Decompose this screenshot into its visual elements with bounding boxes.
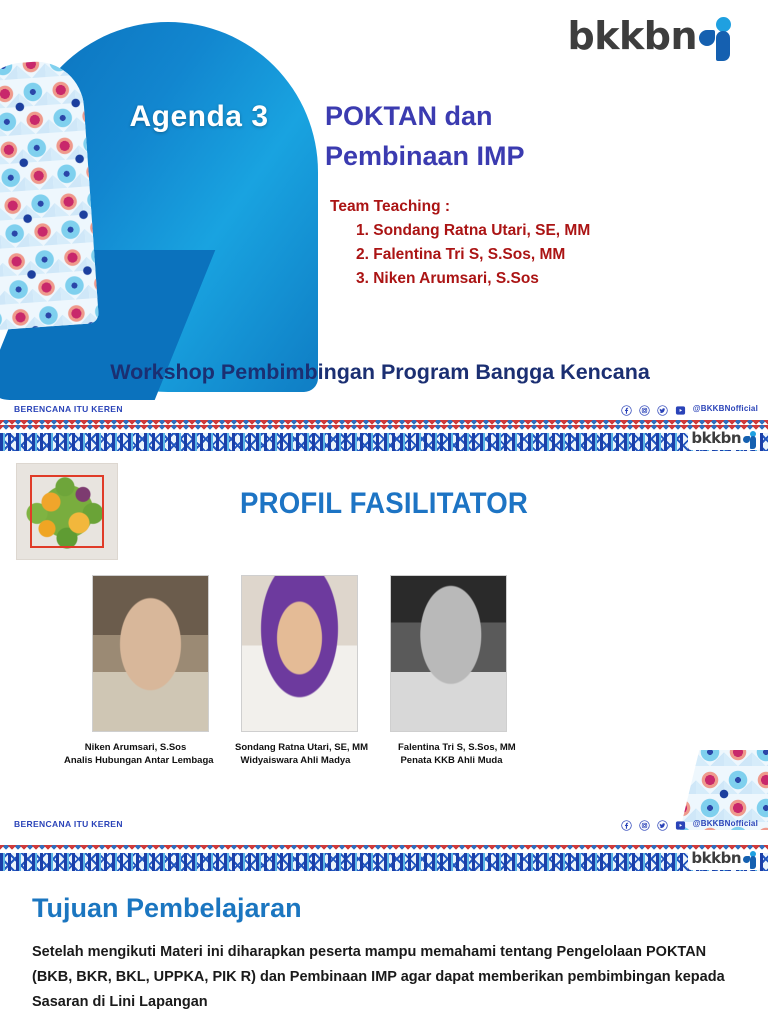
slide-2-profil-fasilitator: bkkbn PROFIL FASILITATOR Niken Arumsari,… — [0, 425, 768, 845]
facilitator-name: Falentina Tri S, S.Sos, MM — [398, 741, 505, 754]
bkkbn-wordmark: bkkbn — [691, 431, 741, 446]
bkkbn-logo: bkkbn — [688, 850, 760, 870]
slide-3-tujuan-pembelajaran: bkkbn Tujuan Pembelajaran Setelah mengik… — [0, 845, 768, 1024]
workshop-subtitle: Workshop Pembimbingan Program Bangga Ken… — [0, 360, 760, 385]
facilitator-card: Niken Arumsari, S.Sos Analis Hubungan An… — [92, 575, 207, 767]
team-member-2: 2. Falentina Tri S, S.Sos, MM — [356, 245, 750, 264]
facilitator-role: Widyaiswara Ahli Madya — [235, 754, 356, 767]
slide-title-line-2: Pembinaan IMP — [325, 136, 745, 176]
bkkbn-figure-icon — [743, 431, 757, 449]
instagram-icon[interactable] — [639, 403, 650, 414]
section-heading: Tujuan Pembelajaran — [32, 893, 302, 924]
facilitator-name: Sondang Ratna Utari, SE, MM — [235, 741, 356, 754]
footer-handle[interactable]: @BKKBNofficial — [693, 404, 758, 413]
section-heading: PROFIL FASILITATOR — [31, 487, 738, 521]
twitter-icon[interactable] — [657, 403, 668, 414]
facilitator-role: Penata KKB Ahli Muda — [398, 754, 505, 767]
slide-1-footer: BERENCANA ITU KEREN @BKKBNofficial — [0, 402, 768, 420]
slide-deck: Agenda 3 POKTAN dan Pembinaan IMP Team T… — [0, 0, 768, 1024]
facilitator-photo — [92, 575, 209, 732]
footer-tagline: BERENCANA ITU KEREN — [14, 404, 123, 414]
bkkbn-wordmark: bkkbn — [691, 851, 741, 866]
facilitator-list: Niken Arumsari, S.Sos Analis Hubungan An… — [92, 575, 692, 767]
youtube-icon[interactable] — [675, 818, 686, 829]
decorative-band-3: bkkbn — [0, 845, 768, 871]
instagram-icon[interactable] — [639, 818, 650, 829]
slide-title-line-1: POKTAN dan — [325, 96, 745, 136]
x-motif-strip — [0, 853, 768, 871]
footer-tagline: BERENCANA ITU KEREN — [14, 819, 123, 829]
facilitator-photo — [390, 575, 507, 732]
team-teaching-heading: Team Teaching : — [330, 198, 750, 216]
bkkbn-wordmark: bkkbn — [568, 17, 698, 55]
agenda-badge-label: Agenda 3 — [104, 100, 294, 134]
body-paragraph: Setelah mengikuti Materi ini diharapkan … — [32, 940, 732, 1015]
team-teaching-list: 1. Sondang Ratna Utari, SE, MM 2. Falent… — [330, 221, 750, 288]
bkkbn-figure-icon — [743, 851, 757, 869]
facilitator-card: Sondang Ratna Utari, SE, MM Widyaiswara … — [241, 575, 356, 767]
bkkbn-figure-icon — [699, 17, 733, 61]
bkkbn-logo: bkkbn — [688, 430, 760, 450]
triangle-motif-strip — [0, 845, 768, 853]
team-member-1: 1. Sondang Ratna Utari, SE, MM — [356, 221, 750, 240]
youtube-icon[interactable] — [675, 403, 686, 414]
facebook-icon[interactable] — [621, 403, 632, 414]
bkkbn-logo: bkkbn — [565, 16, 737, 62]
footer-social: @BKKBNofficial — [621, 403, 758, 414]
x-motif-strip — [0, 433, 768, 451]
facilitator-name: Niken Arumsari, S.Sos — [64, 741, 207, 754]
facebook-icon[interactable] — [621, 818, 632, 829]
facilitator-photo — [241, 575, 358, 732]
team-teaching-block: Team Teaching : 1. Sondang Ratna Utari, … — [330, 198, 750, 293]
twitter-icon[interactable] — [657, 818, 668, 829]
team-member-3: 3. Niken Arumsari, S.Sos — [356, 269, 750, 288]
footer-social: @BKKBNofficial — [621, 818, 758, 829]
footer-handle[interactable]: @BKKBNofficial — [693, 819, 758, 828]
slide-title: POKTAN dan Pembinaan IMP — [325, 96, 745, 176]
slide-2-footer: BERENCANA ITU KEREN @BKKBNofficial — [0, 817, 768, 835]
facilitator-card: Falentina Tri S, S.Sos, MM Penata KKB Ah… — [390, 575, 505, 767]
triangle-motif-strip — [0, 425, 768, 433]
decorative-band-2: bkkbn — [0, 425, 768, 451]
slide-1-title: Agenda 3 POKTAN dan Pembinaan IMP Team T… — [0, 0, 768, 425]
facilitator-role: Analis Hubungan Antar Lembaga — [64, 754, 207, 767]
